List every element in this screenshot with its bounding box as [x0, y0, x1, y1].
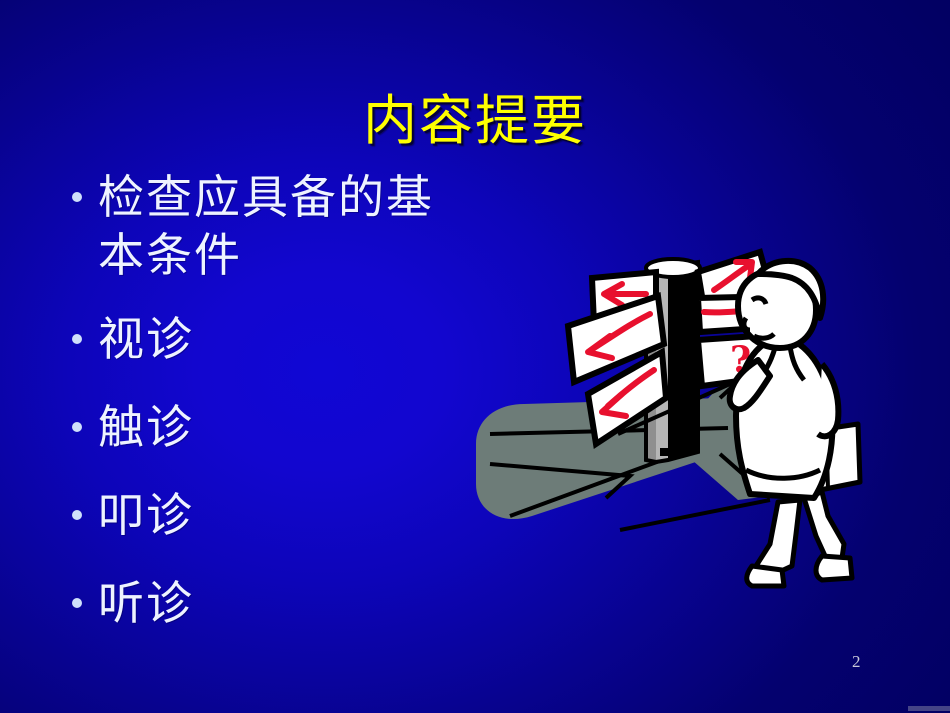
bullet-dot-icon — [72, 510, 82, 520]
list-item[interactable]: 叩诊 — [72, 486, 492, 544]
slide-canvas: 内容提要 检查应具备的基本条件 视诊 触诊 叩诊 听诊 — [0, 0, 950, 713]
list-item-label: 触诊 — [98, 398, 448, 456]
list-item[interactable]: 视诊 — [72, 310, 492, 368]
list-item-label: 检查应具备的基本条件 — [98, 168, 448, 284]
list-item-label: 视诊 — [98, 310, 448, 368]
bullet-dot-icon — [72, 192, 82, 202]
bullet-dot-icon — [72, 598, 82, 608]
bullet-dot-icon — [72, 422, 82, 432]
bullet-dot-icon — [72, 334, 82, 344]
list-item-label: 叩诊 — [98, 486, 448, 544]
list-item[interactable]: 检查应具备的基本条件 — [72, 168, 492, 284]
slide-title: 内容提要 — [0, 90, 950, 152]
signpost-clipart-image: ? — [470, 248, 875, 600]
bullet-list: 检查应具备的基本条件 视诊 触诊 叩诊 听诊 — [72, 168, 492, 662]
page-number: 2 — [852, 652, 861, 672]
list-item[interactable]: 听诊 — [72, 574, 492, 632]
bottom-edge-artifact — [908, 706, 950, 711]
list-item-label: 听诊 — [98, 574, 448, 632]
list-item[interactable]: 触诊 — [72, 398, 492, 456]
